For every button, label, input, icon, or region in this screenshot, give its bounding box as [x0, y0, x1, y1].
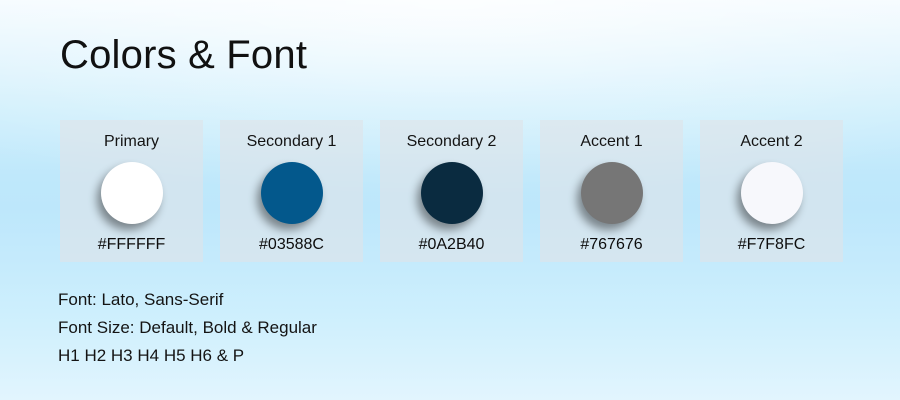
swatch-name-label: Accent 2: [740, 134, 802, 150]
heading-levels-line: H1 H2 H3 H4 H5 H6 & P: [58, 342, 317, 370]
color-circle-swatch[interactable]: [581, 162, 643, 224]
color-swatch-row: Primary #FFFFFF Secondary 1 #03588C Seco…: [60, 120, 843, 262]
color-circle-swatch[interactable]: [421, 162, 483, 224]
font-family-line: Font: Lato, Sans-Serif: [58, 286, 317, 314]
style-guide-canvas: Colors & Font Primary #FFFFFF Secondary …: [0, 0, 900, 400]
swatch-name-label: Secondary 2: [407, 134, 497, 150]
swatch-name-label: Secondary 1: [247, 134, 337, 150]
swatch-hex-label: #0A2B40: [419, 237, 485, 253]
swatch-card-secondary-2[interactable]: Secondary 2 #0A2B40: [380, 120, 523, 262]
swatch-hex-label: #767676: [580, 237, 642, 253]
swatch-name-label: Primary: [104, 134, 159, 150]
swatch-hex-label: #FFFFFF: [98, 237, 166, 253]
font-size-line: Font Size: Default, Bold & Regular: [58, 314, 317, 342]
swatch-card-accent-2[interactable]: Accent 2 #F7F8FC: [700, 120, 843, 262]
swatch-card-primary[interactable]: Primary #FFFFFF: [60, 120, 203, 262]
color-circle-swatch[interactable]: [741, 162, 803, 224]
swatch-card-secondary-1[interactable]: Secondary 1 #03588C: [220, 120, 363, 262]
color-circle-swatch[interactable]: [261, 162, 323, 224]
swatch-card-accent-1[interactable]: Accent 1 #767676: [540, 120, 683, 262]
swatch-hex-label: #F7F8FC: [738, 237, 806, 253]
swatch-name-label: Accent 1: [580, 134, 642, 150]
swatch-hex-label: #03588C: [259, 237, 324, 253]
page-title: Colors & Font: [60, 33, 307, 77]
color-circle-swatch[interactable]: [101, 162, 163, 224]
font-info-block: Font: Lato, Sans-Serif Font Size: Defaul…: [58, 286, 317, 370]
